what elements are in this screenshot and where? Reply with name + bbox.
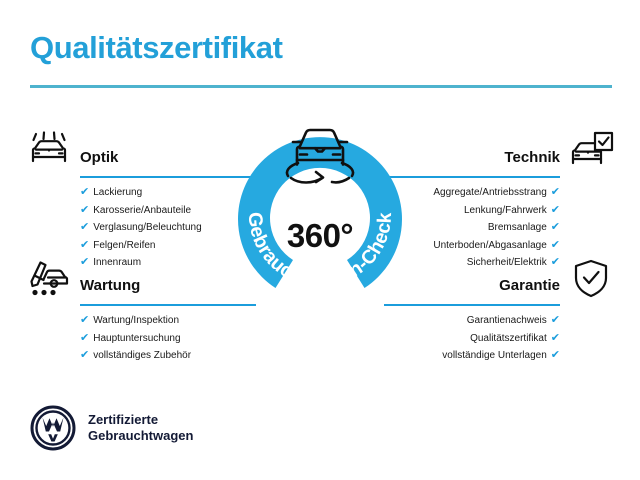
check-icon: ✔: [80, 184, 89, 201]
page-title: Qualitätszertifikat: [30, 30, 283, 66]
check-icon: ✔: [80, 237, 89, 254]
list-item-label: Innenraum: [93, 255, 141, 272]
check-icon: ✔: [80, 254, 89, 271]
list-item-label: Karosserie/Anbauteile: [93, 203, 191, 220]
volkswagen-logo: [30, 405, 76, 451]
check-icon: ✔: [80, 219, 89, 236]
brand-text: Zertifizierte Gebrauchtwagen: [88, 412, 193, 444]
title-divider: [30, 85, 612, 88]
check-icon: ✔: [551, 330, 560, 347]
list-item: vollständige Unterlagen✔: [384, 347, 560, 365]
list-item-label: Aggregate/Antriebsstrang: [433, 185, 546, 202]
car-shine-icon: [28, 131, 70, 176]
check-icon: ✔: [551, 312, 560, 329]
check-icon: ✔: [80, 202, 89, 219]
list-item-label: Lackierung: [93, 185, 142, 202]
pen-car-dots-icon: [28, 259, 70, 304]
brand-line-2: Gebrauchtwagen: [88, 428, 193, 444]
section-wartung-list: ✔Wartung/Inspektion ✔Hauptuntersuchung ✔…: [80, 312, 256, 365]
list-item-label: Bremsanlage: [488, 220, 547, 237]
check-icon: ✔: [551, 237, 560, 254]
list-item: ✔Hauptuntersuchung: [80, 330, 256, 348]
list-item: Garantienachweis✔: [384, 312, 560, 330]
check-icon: ✔: [80, 312, 89, 329]
badge-value: 360°: [225, 217, 415, 255]
footer-brand: Zertifizierte Gebrauchtwagen: [30, 405, 193, 451]
shield-check-icon: [573, 259, 609, 304]
360-check-badge: Gebrauchtwagen-Check 360°: [225, 120, 415, 310]
list-item-label: Garantienachweis: [467, 313, 547, 330]
list-item-label: Unterboden/Abgasanlage: [433, 238, 546, 255]
car-checkbox-icon: [570, 131, 614, 176]
brand-line-1: Zertifizierte: [88, 412, 193, 428]
list-item-label: Verglasung/Beleuchtung: [93, 220, 201, 237]
check-icon: ✔: [80, 330, 89, 347]
list-item-label: vollständige Unterlagen: [442, 348, 547, 365]
list-item-label: vollständiges Zubehör: [93, 348, 191, 365]
list-item-label: Sicherheit/Elektrik: [467, 255, 547, 272]
list-item-label: Wartung/Inspektion: [93, 313, 179, 330]
list-item-label: Felgen/Reifen: [93, 238, 155, 255]
list-item: Qualitätszertifikat✔: [384, 330, 560, 348]
check-icon: ✔: [551, 184, 560, 201]
list-item-label: Qualitätszertifikat: [470, 331, 547, 348]
car-rotation-icon: [277, 118, 363, 190]
check-icon: ✔: [80, 347, 89, 364]
check-icon: ✔: [551, 202, 560, 219]
section-garantie-list: Garantienachweis✔ Qualitätszertifikat✔ v…: [384, 312, 560, 365]
list-item: ✔Wartung/Inspektion: [80, 312, 256, 330]
check-icon: ✔: [551, 219, 560, 236]
list-item: ✔vollständiges Zubehör: [80, 347, 256, 365]
list-item-label: Lenkung/Fahrwerk: [464, 203, 547, 220]
list-item-label: Hauptuntersuchung: [93, 331, 180, 348]
check-icon: ✔: [551, 347, 560, 364]
check-icon: ✔: [551, 254, 560, 271]
